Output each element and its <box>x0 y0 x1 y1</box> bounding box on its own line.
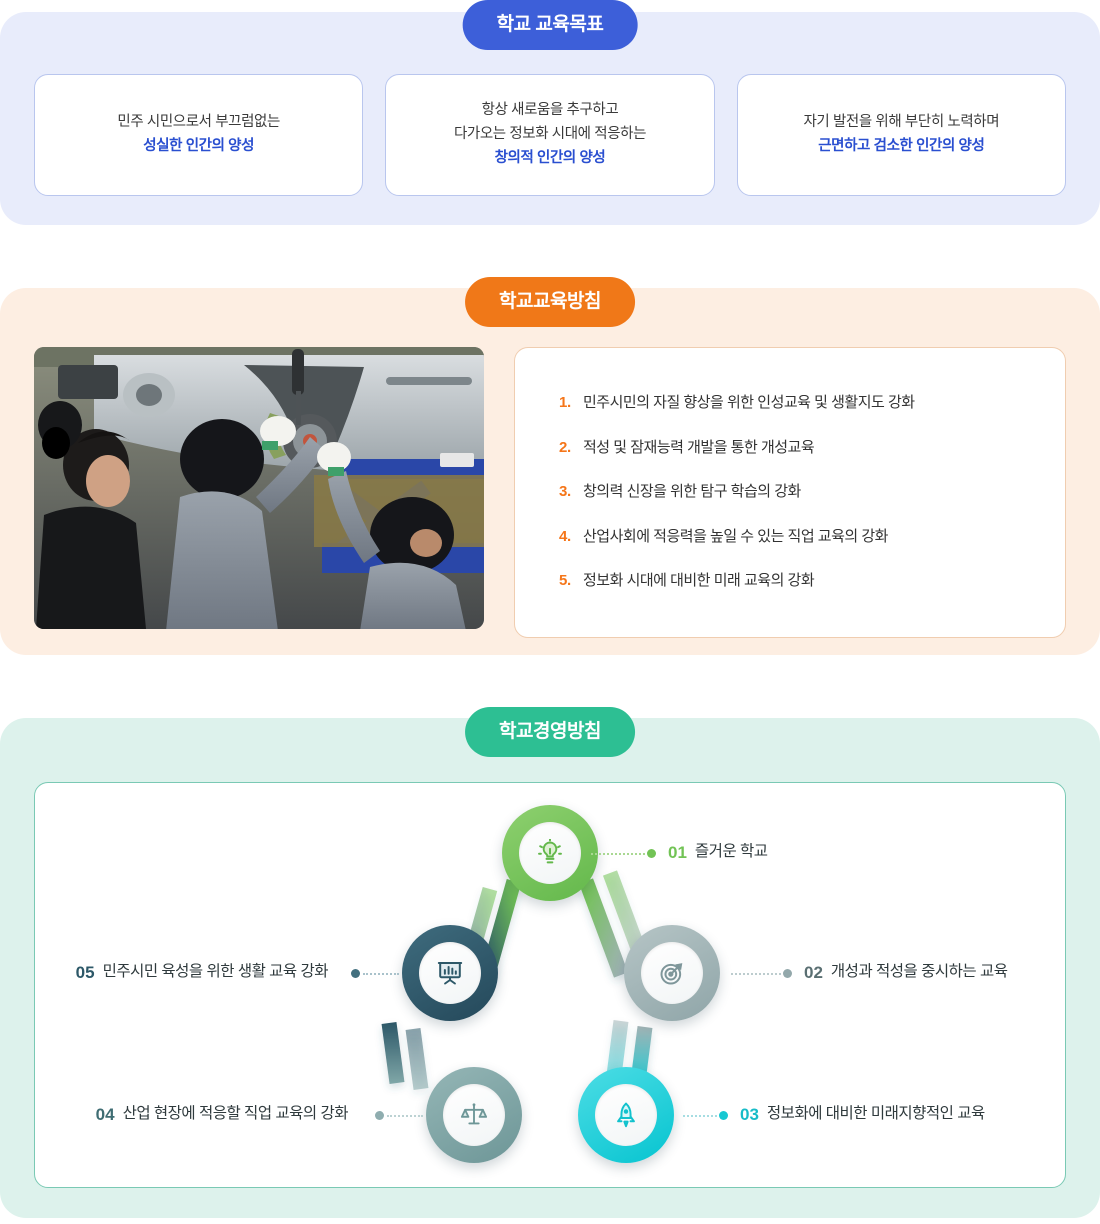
goal-card-1-line-1: 민주 시민으로서 부끄럼없는 <box>117 111 280 135</box>
policy-item-1-text: 민주시민의 자질 향상을 위한 인성교육 및 생활지도 강화 <box>583 392 915 415</box>
section-education-policy: 학교교육방침 <box>0 288 1100 655</box>
node-03-text: 정보화에 대비한 미래지향적인 교육 <box>767 1103 985 1125</box>
node-04-icon-wrap <box>443 1084 505 1146</box>
policy-item-2-number: 2. <box>559 437 583 460</box>
rocket-icon <box>612 1101 640 1129</box>
node-02-text: 개성과 적성을 중시하는 교육 <box>831 961 1008 983</box>
policy-content: 1. 민주시민의 자질 향상을 위한 인성교육 및 생활지도 강화 2. 적성 … <box>34 347 1066 638</box>
node-04-label: 04 산업 현장에 적응할 직업 교육의 강화 <box>96 1103 348 1128</box>
section-management-policy: 학교경영방침 <box>0 718 1100 1218</box>
node-01-label: 01 즐거운 학교 <box>668 841 768 866</box>
node-02-connector-dot <box>783 969 792 978</box>
page-root: 학교 교육목표 민주 시민으로서 부끄럼없는 성실한 인간의 양성 항상 새로움… <box>0 0 1100 1224</box>
diagram-node-03[interactable] <box>578 1067 674 1163</box>
node-03-icon-wrap <box>595 1084 657 1146</box>
section-goals-badge: 학교 교육목표 <box>463 0 638 50</box>
policy-item-4: 4. 산업사회에 적응력을 높일 수 있는 직업 교육의 강화 <box>559 526 1035 549</box>
node-02-number: 02 <box>804 961 823 986</box>
node-05-label: 05 민주시민 육성을 위한 생활 교육 강화 <box>60 961 328 986</box>
policy-item-4-number: 4. <box>559 526 583 549</box>
node-05-connector-line <box>363 973 399 975</box>
node-04-text: 산업 현장에 적응할 직업 교육의 강화 <box>123 1103 348 1125</box>
node-05-number: 05 <box>76 961 95 986</box>
node-01-connector-line <box>591 853 645 855</box>
policy-item-3-text: 창의력 신장을 위한 탐구 학습의 강화 <box>583 481 801 504</box>
target-icon <box>658 959 686 987</box>
goal-card-3-highlight: 근면하고 검소한 인간의 양성 <box>818 135 984 159</box>
node-03-number: 03 <box>740 1103 759 1128</box>
goal-card-2-line-1: 항상 새로움을 추구하고 <box>482 99 619 123</box>
diagram-node-01[interactable] <box>502 805 598 901</box>
policy-item-3: 3. 창의력 신장을 위한 탐구 학습의 강화 <box>559 481 1035 504</box>
node-03-label: 03 정보화에 대비한 미래지향적인 교육 <box>740 1103 985 1128</box>
policy-item-5-text: 정보화 시대에 대비한 미래 교육의 강화 <box>583 570 814 593</box>
section-education-goals: 학교 교육목표 민주 시민으로서 부끄럼없는 성실한 인간의 양성 항상 새로움… <box>0 12 1100 225</box>
diagram-node-05[interactable] <box>402 925 498 1021</box>
node-01-text: 즐거운 학교 <box>695 841 768 863</box>
auto-mechanics-class-photo <box>34 347 484 629</box>
policy-item-4-text: 산업사회에 적응력을 높일 수 있는 직업 교육의 강화 <box>583 526 888 549</box>
node-05-text: 민주시민 육성을 위한 생활 교육 강화 <box>103 961 328 983</box>
goal-card-3-line-1: 자기 발전을 위해 부단히 노력하며 <box>803 111 999 135</box>
node-03-connector-dot <box>719 1111 728 1120</box>
diagram-node-02[interactable] <box>624 925 720 1021</box>
goal-card-2: 항상 새로움을 추구하고 다가오는 정보화 시대에 적응하는 창의적 인간의 양… <box>385 74 714 196</box>
policy-item-1-number: 1. <box>559 392 583 415</box>
node-01-connector-dot <box>647 849 656 858</box>
node-05-icon-wrap <box>419 942 481 1004</box>
node-05-connector-dot <box>351 969 360 978</box>
policy-item-5: 5. 정보화 시대에 대비한 미래 교육의 강화 <box>559 570 1035 593</box>
node-03-connector-line <box>683 1115 717 1117</box>
pentagon-diagram: 01 즐거운 학교 <box>35 783 1065 1187</box>
policy-item-5-number: 5. <box>559 570 583 593</box>
section-manage-badge: 학교경영방침 <box>465 707 635 757</box>
policy-item-3-number: 3. <box>559 481 583 504</box>
scales-icon <box>460 1101 488 1129</box>
node-02-label: 02 개성과 적성을 중시하는 교육 <box>804 961 1007 986</box>
node-01-number: 01 <box>668 841 687 866</box>
policy-item-1: 1. 민주시민의 자질 향상을 위한 인성교육 및 생활지도 강화 <box>559 392 1035 415</box>
lightbulb-icon <box>536 839 564 867</box>
node-04-connector-dot <box>375 1111 384 1120</box>
goal-card-2-highlight: 창의적 인간의 양성 <box>495 147 606 171</box>
diagram-node-04[interactable] <box>426 1067 522 1163</box>
goal-card-3: 자기 발전을 위해 부단히 노력하며 근면하고 검소한 인간의 양성 <box>737 74 1066 196</box>
policy-item-2-text: 적성 및 잠재능력 개발을 통한 개성교육 <box>583 437 814 460</box>
section-policy-badge: 학교교육방침 <box>465 277 635 327</box>
node-01-icon-wrap <box>519 822 581 884</box>
policy-list-card: 1. 민주시민의 자질 향상을 위한 인성교육 및 생활지도 강화 2. 적성 … <box>514 347 1066 638</box>
node-02-connector-line <box>731 973 781 975</box>
management-diagram-card: 01 즐거운 학교 <box>34 782 1066 1188</box>
goal-card-1-highlight: 성실한 인간의 양성 <box>143 135 254 159</box>
node-02-icon-wrap <box>641 942 703 1004</box>
goal-card-row: 민주 시민으로서 부끄럼없는 성실한 인간의 양성 항상 새로움을 추구하고 다… <box>34 74 1066 196</box>
goal-card-2-line-2: 다가오는 정보화 시대에 적응하는 <box>454 123 646 147</box>
goal-card-1: 민주 시민으로서 부끄럼없는 성실한 인간의 양성 <box>34 74 363 196</box>
node-04-connector-line <box>387 1115 423 1117</box>
presentation-chart-icon <box>436 959 464 987</box>
policy-item-2: 2. 적성 및 잠재능력 개발을 통한 개성교육 <box>559 437 1035 460</box>
node-04-number: 04 <box>96 1103 115 1128</box>
